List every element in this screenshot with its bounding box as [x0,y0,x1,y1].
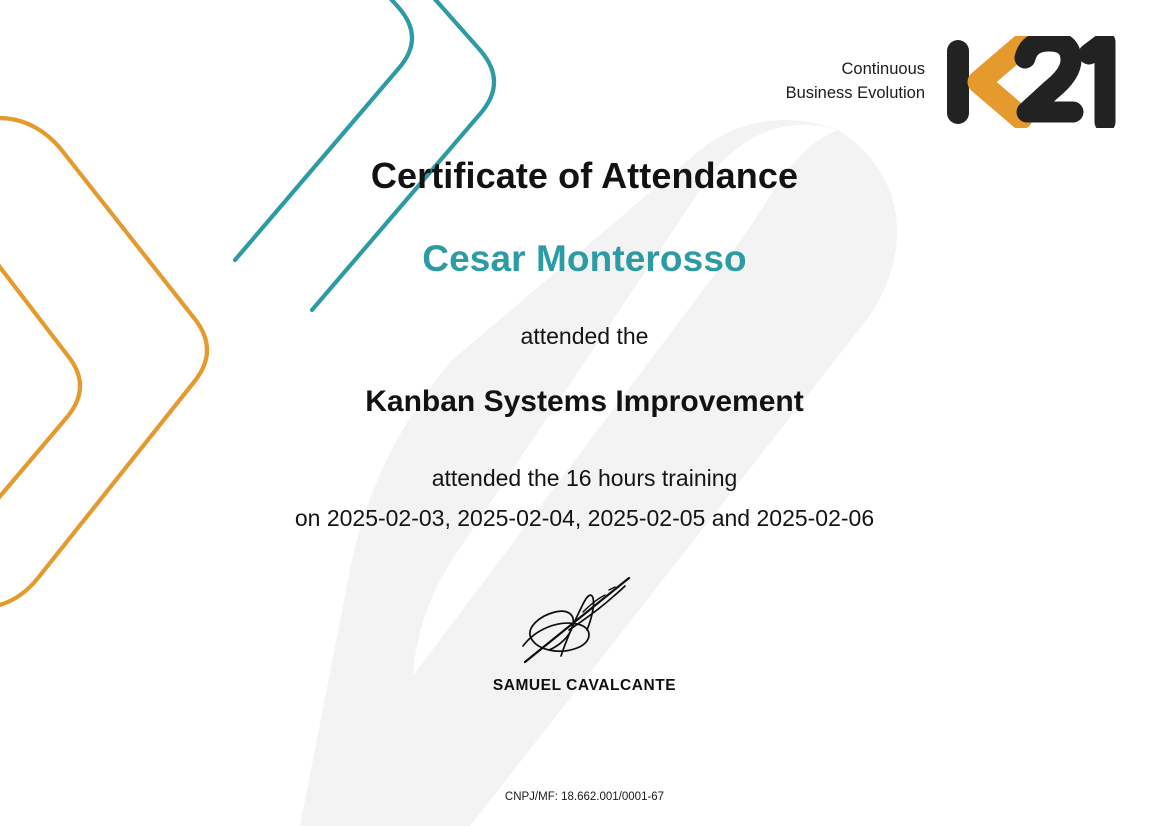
certificate-content: Continuous Business Evolution Certificat… [0,0,1169,826]
brand-tagline-line2: Business Evolution [786,82,925,106]
footer-registration: CNPJ/MF: 18.662.001/0001-67 [0,791,1169,803]
signature-mark-icon [505,568,665,668]
logo-k-stem-icon [947,40,969,124]
k21-logo [943,36,1123,128]
brand-block: Continuous Business Evolution [786,36,1123,128]
certificate-page: Continuous Business Evolution Certificat… [0,0,1169,826]
logo-digit-2-icon [1025,41,1073,112]
signatory-name: SAMUEL CAVALCANTE [0,677,1169,695]
course-title: Kanban Systems Improvement [0,385,1169,419]
dates-line: on 2025-02-03, 2025-02-04, 2025-02-05 an… [0,499,1169,539]
attended-lead-text: attended the [0,323,1169,350]
brand-tagline: Continuous Business Evolution [786,58,925,106]
page-title: Certificate of Attendance [0,155,1169,197]
duration-line: attended the 16 hours training [0,459,1169,499]
brand-tagline-line1: Continuous [786,58,925,82]
duration-and-dates: attended the 16 hours training on 2025-0… [0,459,1169,539]
signature-area: SAMUEL CAVALCANTE [0,568,1169,695]
logo-digit-1-icon [1089,42,1105,122]
recipient-name: Cesar Monterosso [0,238,1169,280]
